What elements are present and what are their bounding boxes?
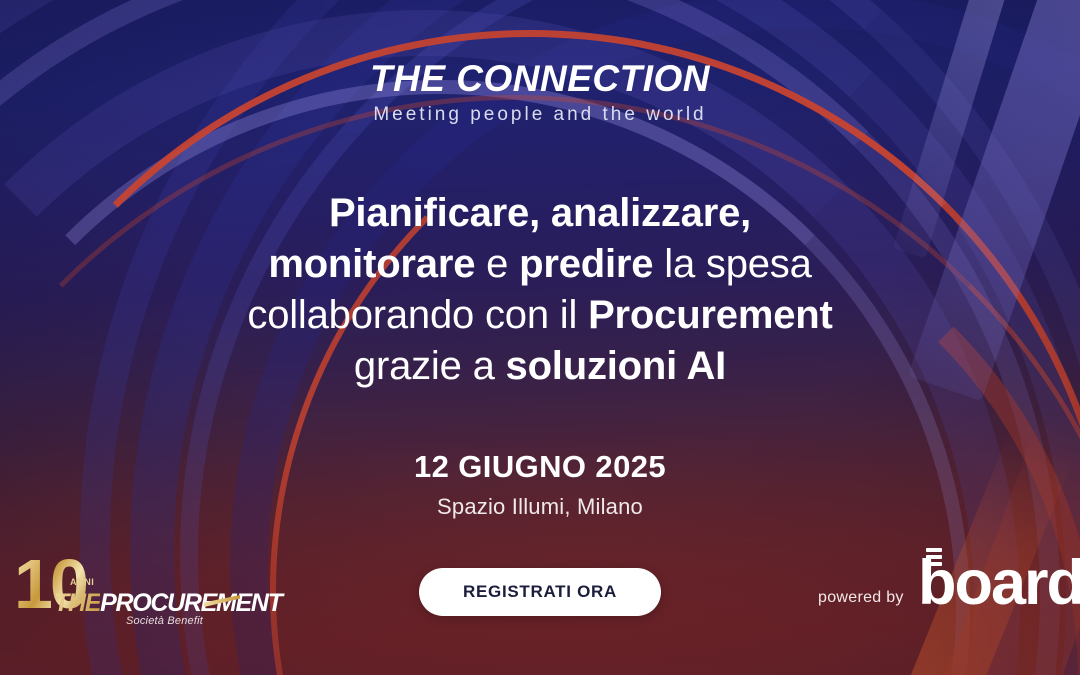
headline-la-spesa: la spesa	[653, 242, 811, 286]
the-procurement-wordmark: THEPROCUREMENT	[54, 589, 282, 618]
headline-line-2: monitorare e predire la spesa	[90, 239, 990, 290]
headline-soluzioni-ai: soluzioni AI	[506, 344, 727, 388]
wordmark-the: THE	[54, 589, 100, 617]
event-date: 12 GIUGNO 2025	[0, 449, 1080, 485]
board-wordmark: board	[918, 552, 1080, 615]
wordmark-procurement: PROCUREMENT	[100, 589, 282, 617]
headline-line-3: collaborando con il Procurement	[90, 290, 990, 341]
event-venue: Spazio Illumi, Milano	[0, 494, 1080, 520]
headline-line1-bold: Pianificare, analizzare,	[329, 191, 751, 235]
the-procurement-logo[interactable]: 10 ANNI THEPROCUREMENT Società Benefit	[8, 551, 240, 635]
headline-line-1: Pianificare, analizzare,	[90, 188, 990, 239]
powered-by-label: powered by	[818, 589, 904, 607]
headline-monitorare: monitorare	[268, 242, 475, 286]
board-logo[interactable]: board	[918, 546, 1080, 626]
societa-benefit-tagline: Società Benefit	[126, 615, 203, 627]
headline-predire: predire	[519, 242, 653, 286]
event-headline: Pianificare, analizzare, monitorare e pr…	[90, 188, 990, 392]
headline-grazie-a: grazie a	[354, 344, 506, 388]
event-banner: THE CONNECTION Meeting people and the wo…	[0, 0, 1080, 675]
event-kicker-subtitle: Meeting people and the world	[0, 104, 1080, 126]
register-now-button[interactable]: REGISTRATI ORA	[419, 568, 661, 616]
headline-procurement: Procurement	[588, 293, 833, 337]
headline-e: e	[475, 242, 519, 286]
headline-line-4: grazie a soluzioni AI	[90, 341, 990, 392]
headline-collaborando: collaborando con il	[247, 293, 588, 337]
banner-content: THE CONNECTION Meeting people and the wo…	[0, 0, 1080, 675]
event-kicker-title: THE CONNECTION	[0, 58, 1080, 100]
anniversary-label: ANNI	[70, 577, 94, 587]
